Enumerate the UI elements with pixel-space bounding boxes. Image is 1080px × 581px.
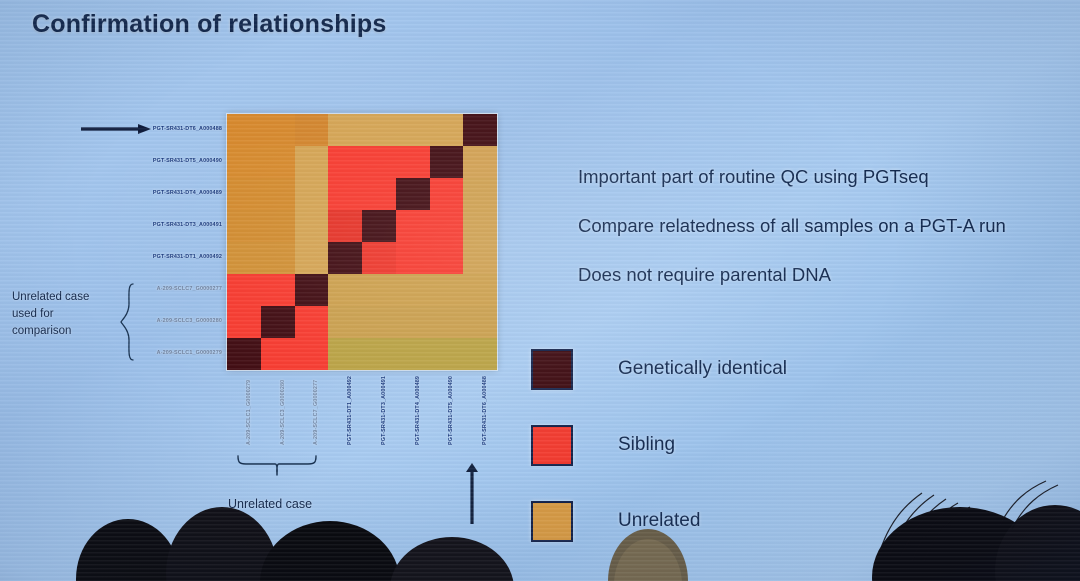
heatmap-cell	[396, 242, 430, 274]
heatmap-column-label: PGT-SR431-DT6_A000488	[482, 376, 488, 445]
heatmap-cell	[463, 178, 497, 210]
heatmap-cell	[328, 274, 362, 306]
heatmap-cell	[362, 178, 396, 210]
heatmap-cell	[463, 210, 497, 242]
heatmap-cell	[362, 242, 396, 274]
left-annotation-line: used for	[12, 306, 120, 323]
heatmap-cell	[362, 114, 396, 146]
heatmap-cell	[463, 306, 497, 338]
heatmap-cell	[295, 274, 329, 306]
left-curly-brace	[119, 282, 136, 362]
heatmap-cell	[396, 178, 430, 210]
heatmap-cell	[328, 146, 362, 178]
left-annotation-text: Unrelated caseused forcomparison	[12, 289, 120, 340]
left-annotation-line: Unrelated case	[12, 289, 120, 306]
heatmap-cell	[261, 210, 295, 242]
relatedness-heatmap	[227, 114, 497, 370]
heatmap-cell	[328, 210, 362, 242]
heatmap-cell	[295, 210, 329, 242]
heatmap-cell	[396, 114, 430, 146]
heatmap-cell	[227, 274, 261, 306]
heatmap-cell	[261, 338, 295, 370]
heatmap-column-label: A-209-SCLC1_G0000279	[246, 380, 252, 445]
bullet-item: Important part of routine QC using PGTse…	[578, 166, 1048, 188]
heatmap-column-label: PGT-SR431-DT1_A000492	[347, 376, 353, 445]
heatmap-cell	[430, 210, 464, 242]
heatmap-cell	[396, 210, 430, 242]
heatmap-cell	[396, 338, 430, 370]
heatmap-cell	[295, 242, 329, 274]
heatmap-column-label: PGT-SR431-DT3_A000491	[381, 376, 387, 445]
heatmap-cell	[227, 338, 261, 370]
heatmap-cell	[227, 178, 261, 210]
heatmap-cell	[362, 274, 396, 306]
heatmap-cell	[430, 338, 464, 370]
heatmap-column-label: A-209-SCLC7_G0000277	[313, 380, 319, 445]
heatmap-cell	[261, 146, 295, 178]
row-pointer-arrow-icon	[80, 123, 152, 135]
heatmap-cell	[261, 306, 295, 338]
audience-silhouettes	[0, 461, 1080, 581]
heatmap-cell	[362, 210, 396, 242]
heatmap-grid	[227, 114, 497, 370]
heatmap-cell	[396, 146, 430, 178]
heatmap-column-label: PGT-SR431-DT4_A000489	[415, 376, 421, 445]
heatmap-cell	[328, 114, 362, 146]
left-annotation-line: comparison	[12, 323, 120, 340]
bullet-item: Does not require parental DNA	[578, 264, 1048, 286]
heatmap-cell	[463, 338, 497, 370]
heatmap-cell	[295, 306, 329, 338]
heatmap-cell	[463, 274, 497, 306]
heatmap-cell	[463, 114, 497, 146]
heatmap-cell	[430, 114, 464, 146]
heatmap-row-label: PGT-SR431-DT3_A000491	[0, 222, 222, 228]
heatmap-cell	[463, 242, 497, 274]
heatmap-cell	[430, 146, 464, 178]
presentation-slide: Confirmation of relationships PGT-SR431-…	[0, 0, 1080, 581]
bullet-list: Important part of routine QC using PGTse…	[578, 166, 1048, 313]
heatmap-cell	[295, 178, 329, 210]
heatmap-row-label: PGT-SR431-DT5_A000490	[0, 158, 222, 164]
heatmap-cell	[362, 338, 396, 370]
legend-color-swatch	[531, 425, 573, 466]
bullet-item: Compare relatedness of all samples on a …	[578, 215, 1048, 237]
heatmap-cell	[295, 338, 329, 370]
heatmap-cell	[328, 306, 362, 338]
heatmap-cell	[261, 274, 295, 306]
heatmap-cell	[261, 114, 295, 146]
heatmap-cell	[295, 146, 329, 178]
heatmap-cell	[261, 178, 295, 210]
legend-label: Sibling	[618, 434, 675, 456]
heatmap-cell	[328, 338, 362, 370]
heatmap-cell	[227, 242, 261, 274]
heatmap-cell	[396, 274, 430, 306]
heatmap-cell	[362, 306, 396, 338]
heatmap-row-label: A-209-SCLC1_G0000279	[0, 350, 222, 356]
heatmap-cell	[295, 114, 329, 146]
heatmap-cell	[430, 242, 464, 274]
heatmap-cell	[227, 306, 261, 338]
heatmap-cell	[227, 210, 261, 242]
legend-label: Genetically identical	[618, 358, 787, 380]
heatmap-cell	[396, 306, 430, 338]
heatmap-cell	[430, 178, 464, 210]
heatmap-cell	[430, 306, 464, 338]
heatmap-row-label: PGT-SR431-DT4_A000489	[0, 190, 222, 196]
legend-item: Genetically identical	[531, 331, 787, 407]
heatmap-row-label: PGT-SR431-DT1_A000492	[0, 254, 222, 260]
heatmap-cell	[430, 274, 464, 306]
heatmap-column-label: A-209-SCLC3_G0000280	[280, 380, 286, 445]
heatmap-cell	[328, 242, 362, 274]
heatmap-cell	[463, 146, 497, 178]
legend-color-swatch	[531, 349, 573, 390]
heatmap-cell	[227, 114, 261, 146]
heatmap-cell	[362, 146, 396, 178]
page-title: Confirmation of relationships	[32, 10, 386, 39]
heatmap-column-label: PGT-SR431-DT5_A000490	[448, 376, 454, 445]
heatmap-cell	[328, 178, 362, 210]
heatmap-cell	[261, 242, 295, 274]
heatmap-cell	[227, 146, 261, 178]
